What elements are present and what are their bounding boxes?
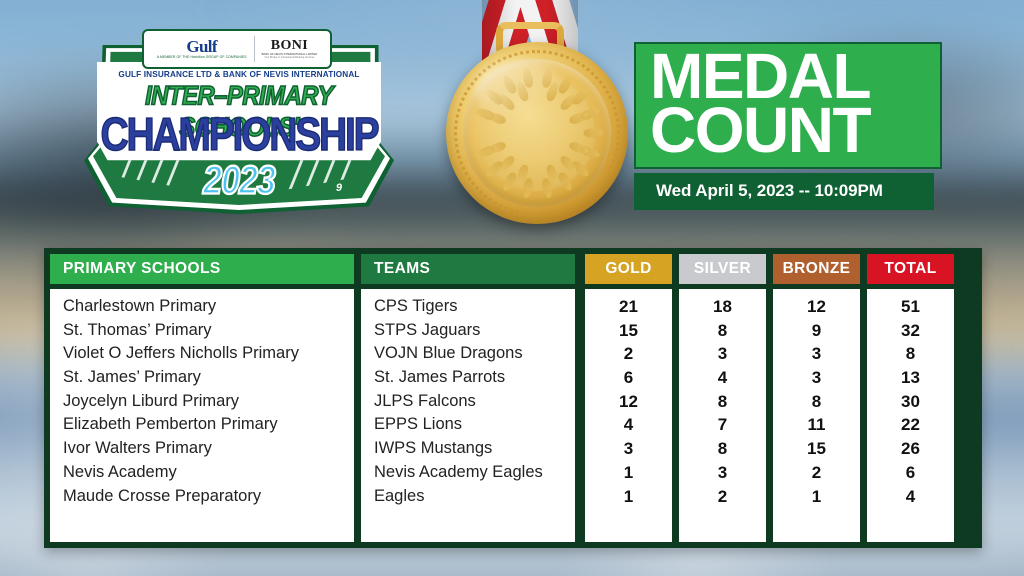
table-row: 8 (773, 390, 860, 414)
column-body-silver: 18 8 3 4 8 7 8 3 2 (679, 289, 766, 542)
logo-sponsor-line: GULF INSURANCE LTD & BANK OF NEVIS INTER… (84, 70, 394, 79)
table-row: Charlestown Primary (63, 295, 354, 319)
headline-line-2: COUNT (650, 104, 926, 158)
table-row: 2 (773, 461, 860, 485)
gulf-tagline: A MEMBER OF THE Hamilton GROUP OF COMPAN… (157, 55, 247, 59)
table-row: VOJN Blue Dragons (374, 342, 575, 366)
table-row: CPS Tigers (374, 295, 575, 319)
table-row: 3 (773, 342, 860, 366)
boni-tagline: Your Bridge to International Banking Ser… (264, 56, 314, 59)
table-row: STPS Jaguars (374, 319, 575, 343)
table-row: 2 (679, 485, 766, 509)
column-header-primary-schools: PRIMARY SCHOOLS (50, 254, 354, 284)
column-body-primary-schools: Charlestown Primary St. Thomas’ Primary … (50, 289, 354, 542)
table-row: IWPS Mustangs (374, 437, 575, 461)
table-row: 4 (867, 485, 954, 509)
table-row: EPPS Lions (374, 413, 575, 437)
boni-bank-logo: BONI BANK OF NEVIS INTERNATIONAL LIMITED… (262, 39, 318, 59)
table-row: 11 (773, 413, 860, 437)
table-row: 1 (773, 485, 860, 509)
table-row: St. James Parrots (374, 366, 575, 390)
table-row: Ivor Walters Primary (63, 437, 354, 461)
table-row: 4 (679, 366, 766, 390)
boni-wordmark: BONI (271, 39, 308, 53)
table-row: 7 (679, 413, 766, 437)
table-row: Eagles (374, 485, 575, 509)
table-row: St. James’ Primary (63, 366, 354, 390)
table-row: 8 (679, 437, 766, 461)
column-silver: SILVER 18 8 3 4 8 7 8 3 2 (679, 254, 766, 542)
table-row: 6 (867, 461, 954, 485)
table-row: 30 (867, 390, 954, 414)
table-row: 22 (867, 413, 954, 437)
table-row: St. Thomas’ Primary (63, 319, 354, 343)
column-bronze: BRONZE 12 9 3 3 8 11 15 2 1 (773, 254, 860, 542)
table-row: 15 (773, 437, 860, 461)
column-body-teams: CPS Tigers STPS Jaguars VOJN Blue Dragon… (361, 289, 575, 542)
headline-green-panel: MEDAL COUNT (634, 42, 942, 169)
gulf-wordmark: Gulf (186, 39, 217, 55)
table-row: 12 (773, 295, 860, 319)
column-body-total: 51 32 8 13 30 22 26 6 4 (867, 289, 954, 542)
table-row: 8 (679, 390, 766, 414)
logo-lane-number: 9 (336, 182, 342, 194)
table-row: 21 (585, 295, 672, 319)
table-row: 6 (585, 366, 672, 390)
table-row: 9 (773, 319, 860, 343)
table-row: 8 (679, 319, 766, 343)
logo-championship-word: CHAMPIONSHIP (84, 110, 394, 162)
table-row: 32 (867, 319, 954, 343)
column-primary-schools: PRIMARY SCHOOLS Charlestown Primary St. … (50, 254, 354, 542)
table-row: 51 (867, 295, 954, 319)
table-row: 13 (867, 366, 954, 390)
table-row: 2 (585, 342, 672, 366)
table-row: Violet O Jeffers Nicholls Primary (63, 342, 354, 366)
table-row: 8 (867, 342, 954, 366)
column-body-gold: 21 15 2 6 12 4 3 1 1 (585, 289, 672, 542)
table-row: Elizabeth Pemberton Primary (63, 413, 354, 437)
championship-logo: Gulf A MEMBER OF THE Hamilton GROUP OF C… (84, 22, 394, 214)
table-row: 18 (679, 295, 766, 319)
sponsor-divider (254, 36, 255, 62)
medal-disc-icon (446, 42, 628, 224)
table-row: 12 (585, 390, 672, 414)
column-teams: TEAMS CPS Tigers STPS Jaguars VOJN Blue … (361, 254, 575, 542)
logo-year: 2023 (84, 158, 394, 204)
column-header-gold: GOLD (585, 254, 672, 284)
table-row: Maude Crosse Preparatory (63, 485, 354, 509)
column-header-silver: SILVER (679, 254, 766, 284)
table-row: 3 (585, 437, 672, 461)
column-gold: GOLD 21 15 2 6 12 4 3 1 1 (585, 254, 672, 542)
table-row: 1 (585, 461, 672, 485)
column-total: TOTAL 51 32 8 13 30 22 26 6 4 (867, 254, 954, 542)
table-row: 26 (867, 437, 954, 461)
table-row: Nevis Academy (63, 461, 354, 485)
column-header-total: TOTAL (867, 254, 954, 284)
table-row: 1 (585, 485, 672, 509)
timestamp-bar: Wed April 5, 2023 -- 10:09PM (634, 173, 934, 210)
column-body-bronze: 12 9 3 3 8 11 15 2 1 (773, 289, 860, 542)
gulf-insurance-logo: Gulf A MEMBER OF THE Hamilton GROUP OF C… (157, 39, 247, 59)
column-header-teams: TEAMS (361, 254, 575, 284)
medal-count-table: PRIMARY SCHOOLS Charlestown Primary St. … (44, 248, 982, 548)
table-row: 4 (585, 413, 672, 437)
table-row: 15 (585, 319, 672, 343)
table-row: 3 (773, 366, 860, 390)
table-row: Joycelyn Liburd Primary (63, 390, 354, 414)
table-row: JLPS Falcons (374, 390, 575, 414)
sponsor-logos: Gulf A MEMBER OF THE Hamilton GROUP OF C… (142, 29, 332, 69)
medal-count-headline: MEDAL COUNT Wed April 5, 2023 -- 10:09PM (634, 42, 942, 210)
gold-medal-graphic (424, 0, 636, 268)
table-row: 3 (679, 461, 766, 485)
table-row: Nevis Academy Eagles (374, 461, 575, 485)
table-row: 3 (679, 342, 766, 366)
column-header-bronze: BRONZE (773, 254, 860, 284)
